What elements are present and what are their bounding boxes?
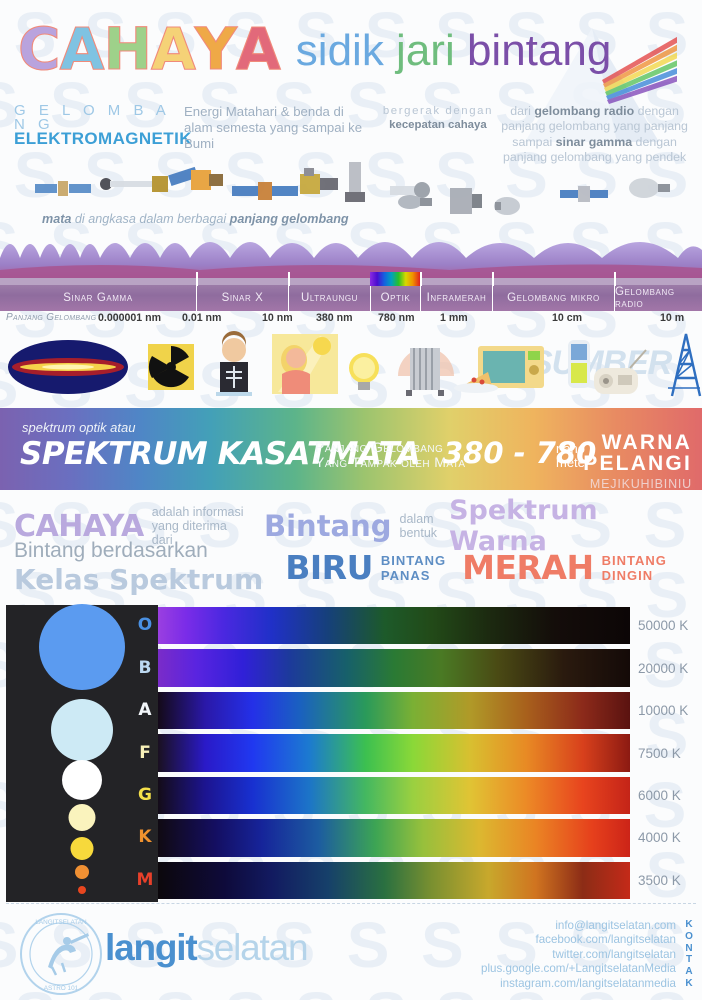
stmt-note-2: dalam bentuk	[400, 512, 438, 540]
temperature-label-O: 50000 K	[638, 618, 688, 633]
em-band-tick-4	[420, 272, 422, 286]
merah-note-1: BINTANG	[602, 553, 667, 568]
temperature-label-M: 3500 K	[638, 873, 681, 888]
temperature-label-F: 7500 K	[638, 746, 681, 761]
title-letter-4: Y	[195, 20, 236, 78]
em-band-tick-5	[492, 272, 494, 286]
contact-link-0[interactable]: info@langitselatan.com	[481, 919, 676, 933]
lightbulb-icon	[349, 353, 379, 390]
source-icon-row: SUMBER	[0, 330, 702, 405]
speed-line-2: kecepatan cahaya	[375, 118, 501, 132]
stmt-merah-note: BINTANG DINGIN	[602, 553, 667, 583]
stmt-bintang: Bintang	[264, 509, 392, 543]
spectrum-strip-K[interactable]	[158, 819, 630, 856]
em-band-sinar-x[interactable]: Sinar X	[196, 285, 288, 311]
svg-text:LANGITSELATAN: LANGITSELATAN	[35, 919, 87, 926]
star-size-M	[78, 886, 86, 894]
star-size-O	[39, 604, 125, 690]
subtitle-word-2: bintang	[467, 26, 611, 75]
header: CAHAYA sidik jari bintang G E L O M B A …	[0, 0, 702, 172]
spectral-class-chart: OBAFGKM 50000 K20000 K10000 K7500 K6000 …	[6, 605, 696, 902]
radio-receiver-icon	[594, 350, 646, 394]
temperature-label-K: 4000 K	[638, 830, 681, 845]
title-letter-2: H	[103, 20, 151, 78]
brand-langit: langit	[105, 927, 196, 968]
footer: LANGITSELATAN ASTRO 101 langitselatan in…	[0, 905, 702, 1000]
em-band-gelombang-radio[interactable]: Gelombang radio	[614, 285, 702, 311]
em-band-optik[interactable]: Optik	[370, 285, 420, 311]
speed-line-1: bergerak dengan	[375, 104, 501, 118]
spectrum-strip-G[interactable]	[158, 777, 630, 814]
contact-link-3[interactable]: plus.google.com/+LangitselatanMedia	[481, 962, 676, 976]
note1-line1: adalah informasi	[152, 505, 244, 519]
title-letter-3: A	[151, 20, 195, 78]
spectrum-strip-F[interactable]	[158, 734, 630, 771]
page-subtitle: sidik jari bintang	[296, 28, 612, 74]
infographic-poster: SSSSSSSSSSSSSSSSSSSSSSSSSSSSSSSSSSSSSSSS…	[0, 0, 702, 1000]
contact-list: info@langitselatan.comfacebook.com/langi…	[481, 919, 676, 991]
spectra-rows	[158, 605, 630, 902]
range-text-segment-0: dari	[510, 104, 534, 118]
wavelength-value-3: 380 nm	[316, 312, 353, 324]
wavelength-value-6: 10 cm	[552, 312, 582, 324]
em-band-tick-1	[196, 272, 198, 286]
wavelength-value-5: 1 mm	[440, 312, 468, 324]
subtitle-word-1: jari	[396, 26, 467, 75]
radio-tower-icon	[668, 334, 700, 396]
merah-note-2: DINGIN	[602, 568, 654, 583]
heater-icon	[398, 348, 454, 396]
star-size-K	[71, 837, 94, 860]
title-row: CAHAYA sidik jari bintang	[18, 20, 611, 78]
rainbow-mnemonic: MEJIKUHIBINIU	[583, 474, 692, 495]
stmt-merah: MERAH	[462, 548, 593, 587]
eml-line-1: G E L O M B A N G	[14, 104, 184, 132]
rainbow-colors-label: WARNA PELANGI MEJIKUHIBINIU	[583, 432, 692, 495]
star-size-F	[62, 760, 102, 800]
temperature-label-G: 6000 K	[638, 788, 681, 803]
title-letter-1: A	[60, 20, 104, 78]
intro-col-energy: Energi Matahari & benda di alam semesta …	[184, 104, 375, 166]
contact-link-2[interactable]: twitter.com/langitselatan	[481, 948, 676, 962]
em-band-tick-6	[614, 272, 616, 286]
stmt-biru-note: BINTANG PANAS	[381, 553, 446, 583]
statement-row-2: Bintang berdasarkan Kelas Spektrum BIRU …	[14, 539, 667, 596]
statement-block: CAHAYA adalah informasi yang diterima da…	[0, 495, 702, 595]
wavelength-value-0: 0.000001 nm	[98, 312, 161, 324]
kontak-letter-3: T	[682, 954, 696, 966]
wavelength-value-7: 10 m	[660, 312, 684, 324]
title-letter-5: A	[236, 20, 280, 78]
wavelength-value-4: 780 nm	[378, 312, 415, 324]
em-band-gelombang-mikro[interactable]: Gelombang mikro	[492, 285, 614, 311]
satellites-and-waves: mata di angkasa dalam berbagai panjang g…	[0, 160, 702, 285]
biru-note-2: PANAS	[381, 568, 431, 583]
biru-note-1: BINTANG	[381, 553, 446, 568]
note2-line2: bentuk	[400, 526, 438, 540]
temperature-label-A: 10000 K	[638, 703, 688, 718]
note2-line1: dalam	[400, 512, 434, 526]
star-size-K2	[75, 865, 89, 879]
optic-rainbow-strip	[370, 272, 420, 286]
intro-col-range: dari gelombang radio dengan panjang gelo…	[501, 104, 688, 166]
mobile-phone-icon	[568, 340, 590, 388]
source-icons-svg	[0, 330, 702, 405]
wavelength-value-1: 0.01 nm	[182, 312, 221, 324]
brand-wordmark: langitselatan	[105, 927, 307, 969]
radiation-hazard-icon	[148, 344, 194, 390]
em-band-ultraungu[interactable]: Ultraungu	[288, 285, 370, 311]
star-size-G	[69, 804, 96, 831]
wavelength-row-label: Panjang Gelombang	[6, 312, 96, 323]
spectrum-strip-B[interactable]	[158, 649, 630, 686]
intro-col-speed: bergerak dengan kecepatan cahaya	[375, 104, 501, 166]
range-text-segment-1: gelombang radio	[534, 104, 634, 118]
em-band-inframerah[interactable]: Inframerah	[420, 285, 492, 311]
brand-selatan: selatan	[196, 927, 307, 968]
spectrum-strip-M[interactable]	[158, 862, 630, 899]
kontak-letter-0: K	[682, 919, 696, 931]
contact-link-1[interactable]: facebook.com/langitselatan	[481, 933, 676, 947]
xray-person-icon	[216, 331, 252, 396]
em-spectrum-bar: Sinar GammaSinar XUltraunguOptikInframer…	[0, 285, 702, 311]
stmt-biru: BIRU	[285, 548, 373, 587]
wave-graphic	[0, 224, 702, 284]
visible-spectrum-banner: spektrum optik atau SPEKTRUM KASATMATA P…	[0, 408, 702, 490]
contact-link-4[interactable]: instagram.com/langitselatanmedia	[481, 977, 676, 991]
footer-divider	[6, 903, 696, 904]
warna-line-1: WARNA	[583, 432, 692, 453]
langitselatan-seal-logo: LANGITSELATAN ASTRO 101	[18, 911, 104, 997]
kontak-vertical-label: KONTAK	[682, 919, 696, 990]
subtitle-word-0: sidik	[296, 26, 396, 75]
visible-sub-label: spektrum optik atau	[22, 420, 135, 435]
em-band-tick-2	[288, 272, 290, 286]
kontak-letter-2: N	[682, 943, 696, 955]
star-size-A	[51, 699, 113, 761]
stmt-kelas-block: Bintang berdasarkan Kelas Spektrum	[14, 539, 263, 596]
kelas-line-1: Bintang berdasarkan	[14, 539, 208, 562]
kontak-letter-4: A	[682, 966, 696, 978]
svg-text:ASTRO 101: ASTRO 101	[44, 985, 79, 992]
em-bar-top-strip	[0, 278, 702, 285]
kontak-letter-1: O	[682, 931, 696, 943]
title-letter-0: C	[18, 20, 60, 78]
intro-col-electromagnetic: G E L O M B A N G ELEKTROMAGNETIK	[14, 104, 184, 166]
spectrum-strip-A[interactable]	[158, 692, 630, 729]
warna-line-2: PELANGI	[583, 453, 692, 474]
uv-sunbathing-icon	[272, 334, 338, 394]
microwave-pizza-icon	[454, 346, 544, 393]
em-band-sinar-gamma[interactable]: Sinar Gamma	[0, 285, 196, 311]
kelas-line-2: Kelas Spektrum	[14, 563, 263, 596]
spectrum-strip-O[interactable]	[158, 607, 630, 644]
intro-columns: G E L O M B A N G ELEKTROMAGNETIK Energi…	[0, 104, 702, 166]
eml-line-2: ELEKTROMAGNETIK	[14, 132, 184, 146]
wavelength-value-2: 10 nm	[262, 312, 293, 324]
page-title: CAHAYA	[18, 20, 280, 78]
temperature-label-B: 20000 K	[638, 661, 688, 676]
range-text-segment-3: sinar gamma	[556, 135, 632, 149]
gamma-sky-map-icon	[8, 340, 128, 394]
kontak-letter-5: K	[682, 978, 696, 990]
wavelength-row: Panjang Gelombang 0.000001 nm0.01 nm10 n…	[0, 312, 702, 328]
